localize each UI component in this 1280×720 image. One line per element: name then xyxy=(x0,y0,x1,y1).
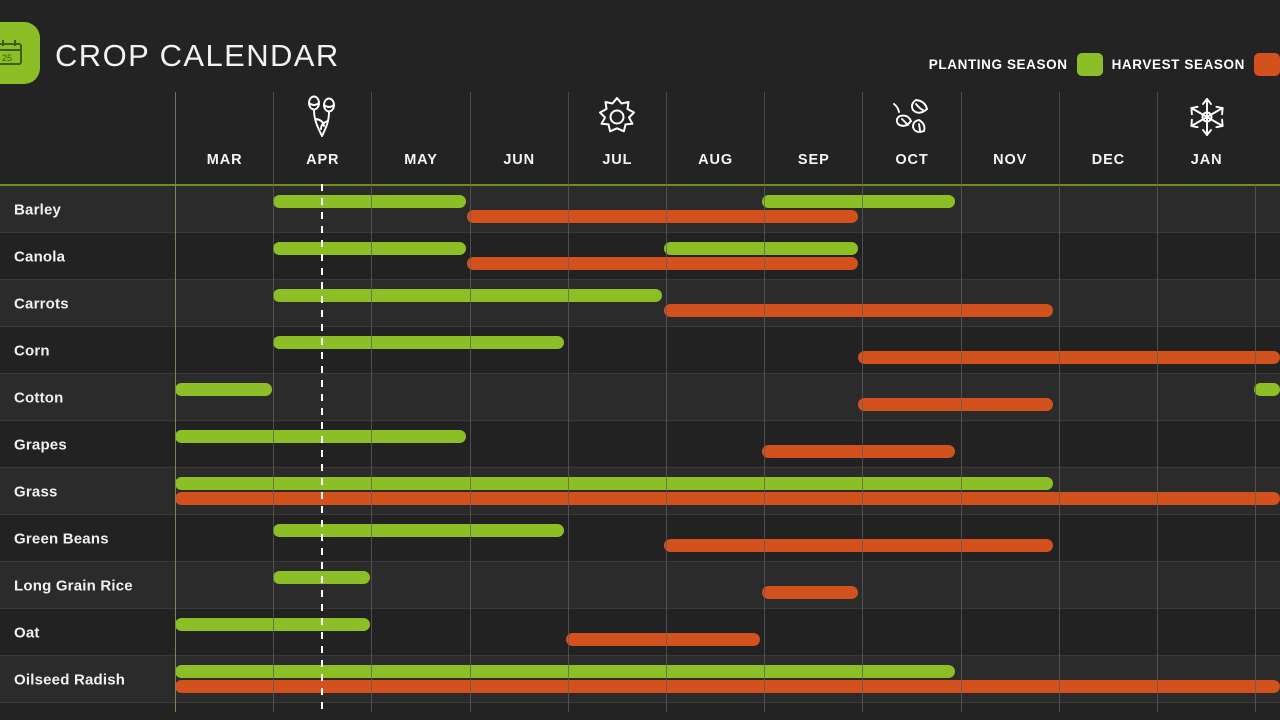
crop-name-label: Barley xyxy=(14,201,61,218)
header-bar: 25 CROP CALENDAR PLANTING SEASON HARVEST… xyxy=(0,0,1280,92)
legend-planting-label: PLANTING SEASON xyxy=(929,57,1068,72)
harvest-season-bar[interactable] xyxy=(175,492,1280,505)
bottom-strip xyxy=(0,712,1280,720)
calendar-grid: BarleyCanolaCarrotsCornCottonGrapesGrass… xyxy=(0,184,1280,720)
crop-row[interactable]: Grass xyxy=(0,468,1280,515)
harvest-season-bar[interactable] xyxy=(175,680,1280,693)
harvest-season-bar[interactable] xyxy=(467,257,858,270)
month-column-apr[interactable]: APR xyxy=(273,92,371,184)
month-column-oct[interactable]: OCT xyxy=(862,92,960,184)
month-label: JUL xyxy=(569,152,666,168)
crop-row[interactable]: Carrots xyxy=(0,280,1280,327)
month-label: MAY xyxy=(372,152,469,168)
month-header-row: MAR APRMAYJUN JULAUGSEP OCTNOVDEC JAN xyxy=(0,92,1280,184)
month-column-may[interactable]: MAY xyxy=(371,92,469,184)
crop-row[interactable]: Oat xyxy=(0,609,1280,656)
month-column-jan[interactable]: JAN xyxy=(1157,92,1255,184)
crop-row[interactable]: Grapes xyxy=(0,421,1280,468)
planting-season-bar[interactable] xyxy=(175,618,370,631)
crop-name-label: Cotton xyxy=(14,389,64,406)
sun-icon xyxy=(592,94,642,142)
crop-row[interactable]: Long Grain Rice xyxy=(0,562,1280,609)
month-label: OCT xyxy=(863,152,960,168)
legend-harvest-swatch xyxy=(1254,53,1280,76)
planting-season-bar[interactable] xyxy=(273,336,564,349)
crop-calendar-app: 25 CROP CALENDAR PLANTING SEASON HARVEST… xyxy=(0,0,1280,720)
planting-season-bar[interactable] xyxy=(175,477,1053,490)
planting-season-bar[interactable] xyxy=(175,383,272,396)
month-label: JUN xyxy=(471,152,568,168)
month-label: AUG xyxy=(667,152,764,168)
flowers-icon xyxy=(298,94,348,142)
row-divider xyxy=(0,702,1280,703)
svg-text:25: 25 xyxy=(2,53,12,63)
crop-name-label: Canola xyxy=(14,248,65,265)
planting-season-bar[interactable] xyxy=(175,665,955,678)
crop-name-label: Carrots xyxy=(14,295,69,312)
month-label: NOV xyxy=(962,152,1059,168)
today-marker-line xyxy=(321,184,323,720)
crop-row[interactable]: Green Beans xyxy=(0,515,1280,562)
harvest-season-bar[interactable] xyxy=(664,539,1053,552)
crop-name-label: Oat xyxy=(14,624,40,641)
calendar-icon: 25 xyxy=(0,22,40,84)
planting-season-bar[interactable] xyxy=(664,242,858,255)
month-label: JAN xyxy=(1158,152,1255,168)
planting-season-bar[interactable] xyxy=(762,195,955,208)
planting-season-bar[interactable] xyxy=(1254,383,1280,396)
crop-rows: BarleyCanolaCarrotsCornCottonGrapesGrass… xyxy=(0,186,1280,703)
harvest-season-bar[interactable] xyxy=(858,351,1280,364)
legend-harvest-label: HARVEST SEASON xyxy=(1112,57,1245,72)
month-column-sep[interactable]: SEP xyxy=(764,92,862,184)
snowflake-icon xyxy=(1182,94,1232,142)
month-column-nov[interactable]: NOV xyxy=(961,92,1059,184)
crop-name-label: Corn xyxy=(14,342,50,359)
month-column-dec[interactable]: DEC xyxy=(1059,92,1157,184)
month-label: APR xyxy=(274,152,371,168)
legend: PLANTING SEASON HARVEST SEASON xyxy=(929,53,1280,76)
month-column-jul[interactable]: JUL xyxy=(568,92,666,184)
month-column-mar[interactable]: MAR xyxy=(175,92,273,184)
planting-season-bar[interactable] xyxy=(273,524,564,537)
crop-name-label: Green Beans xyxy=(14,530,109,547)
month-label: DEC xyxy=(1060,152,1157,168)
month-label: MAR xyxy=(176,152,273,168)
harvest-season-bar[interactable] xyxy=(664,304,1053,317)
crop-name-label: Grass xyxy=(14,483,58,500)
planting-season-bar[interactable] xyxy=(273,242,466,255)
month-label: SEP xyxy=(765,152,862,168)
crop-name-label: Oilseed Radish xyxy=(14,671,125,688)
page-title: CROP CALENDAR xyxy=(55,38,340,74)
crop-row[interactable]: Cotton xyxy=(0,374,1280,421)
month-column-jun[interactable]: JUN xyxy=(470,92,568,184)
falling-leaves-icon xyxy=(886,94,938,142)
crop-name-label: Long Grain Rice xyxy=(14,577,133,594)
legend-planting-swatch xyxy=(1077,53,1103,76)
harvest-season-bar[interactable] xyxy=(858,398,1053,411)
planting-season-bar[interactable] xyxy=(273,195,466,208)
harvest-season-bar[interactable] xyxy=(762,445,955,458)
harvest-season-bar[interactable] xyxy=(762,586,858,599)
crop-name-label: Grapes xyxy=(14,436,67,453)
harvest-season-bar[interactable] xyxy=(467,210,858,223)
crop-row[interactable]: Canola xyxy=(0,233,1280,280)
month-column-aug[interactable]: AUG xyxy=(666,92,764,184)
harvest-season-bar[interactable] xyxy=(566,633,760,646)
crop-row[interactable]: Oilseed Radish xyxy=(0,656,1280,703)
crop-row[interactable]: Barley xyxy=(0,186,1280,233)
planting-season-bar[interactable] xyxy=(273,289,662,302)
crop-row[interactable]: Corn xyxy=(0,327,1280,374)
